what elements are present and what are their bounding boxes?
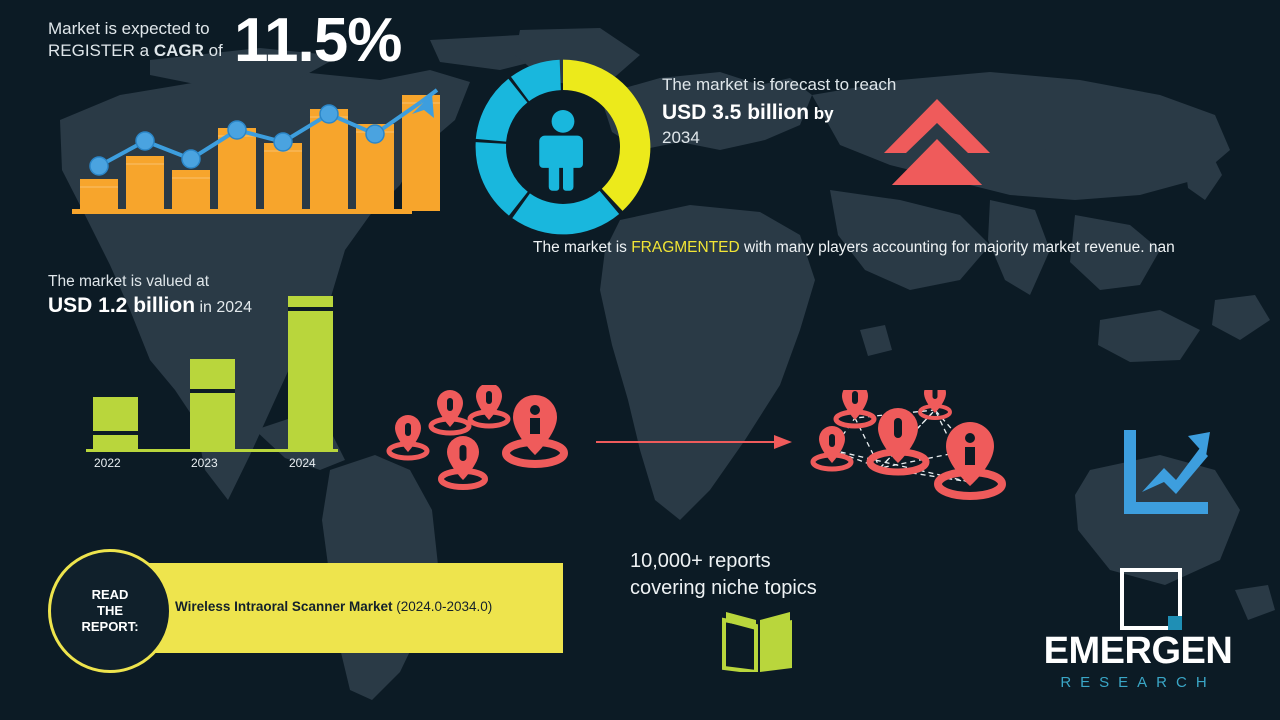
market-value-bar-chart: 2022 2023 2024 — [78, 296, 338, 466]
valuation-line-1: The market is valued at — [48, 271, 368, 292]
growth-trend-line — [72, 88, 472, 220]
frag-pre: The market is — [533, 239, 631, 256]
reports-line-2: covering niche topics — [630, 575, 910, 602]
growth-bar-chart — [72, 88, 412, 220]
right-arrow-icon — [596, 432, 796, 452]
market-share-donut — [468, 52, 658, 242]
forecast-text-block: The market is forecast to reach USD 3.5 … — [662, 73, 902, 149]
forecast-value: USD 3.5 billion by — [662, 99, 902, 127]
report-title: Wireless Intraoral Scanner Market (2024.… — [175, 599, 492, 614]
axis-label-2023: 2023 — [191, 456, 218, 470]
forecast-by: by — [809, 104, 834, 123]
fragmentation-text: The market is FRAGMENTED with many playe… — [533, 236, 1213, 260]
frag-post: with many players accounting for majorit… — [740, 239, 1175, 256]
line-chart-growth-icon — [1118, 428, 1213, 523]
value-bar-2023 — [190, 359, 235, 451]
cagr-keyword: CAGR — [154, 41, 204, 60]
axis-label-2022: 2022 — [94, 456, 121, 470]
open-book-icon — [718, 608, 798, 672]
cagr-value: 11.5% — [234, 10, 401, 72]
forecast-year: 2034 — [662, 127, 902, 149]
emergen-research-logo: EMERGEN RESEARCH — [1013, 568, 1263, 708]
report-period: (2024.0-2034.0) — [396, 599, 492, 614]
cagr-line2-post: of — [204, 41, 223, 60]
read-report-banner[interactable]: Wireless Intraoral Scanner Market (2024.… — [145, 563, 563, 653]
reports-count-text: 10,000+ reports covering niche topics — [630, 548, 910, 602]
map-pin-person-icon — [836, 390, 874, 426]
map-pin-cluster-right-connected — [810, 390, 1020, 505]
logo-name: EMERGEN — [1013, 630, 1263, 673]
donut-slice-leading — [563, 60, 650, 211]
value-bar-2024 — [288, 296, 333, 451]
chart-axis-line — [86, 449, 338, 452]
map-pin-cluster-left — [385, 385, 585, 495]
double-chevron-up-icon — [880, 95, 995, 185]
map-pin-person-icon — [431, 390, 469, 433]
logo-accent-corner — [1168, 616, 1182, 630]
map-pin-person-icon — [470, 385, 508, 426]
axis-label-2024: 2024 — [289, 456, 316, 470]
report-title-text: Wireless Intraoral Scanner Market — [175, 599, 396, 614]
forecast-line-1: The market is forecast to reach — [662, 73, 902, 96]
map-pin-person-icon — [441, 436, 485, 487]
logo-subtitle: RESEARCH — [1013, 674, 1263, 691]
donut-slice — [512, 191, 619, 235]
map-pin-person-icon — [506, 395, 564, 464]
forecast-amount: USD 3.5 billion — [662, 101, 809, 124]
map-pin-person-icon — [938, 422, 1002, 496]
donut-slice — [476, 142, 528, 215]
person-icon — [539, 110, 583, 191]
reports-line-1: 10,000+ reports — [630, 548, 910, 575]
map-pin-person-icon — [920, 390, 950, 418]
map-pin-person-icon — [389, 415, 427, 458]
read-report-label: READTHEREPORT: — [81, 587, 138, 635]
trend-data-point — [90, 105, 384, 175]
value-bar-2022 — [93, 397, 138, 451]
map-pin-person-icon — [870, 408, 926, 472]
infographic-canvas: Market is expected to REGISTER a CAGR of… — [0, 0, 1280, 720]
read-the-report-button[interactable]: READTHEREPORT: — [48, 549, 172, 673]
cagr-line2-pre: REGISTER a — [48, 41, 154, 60]
frag-highlight: FRAGMENTED — [631, 239, 740, 256]
